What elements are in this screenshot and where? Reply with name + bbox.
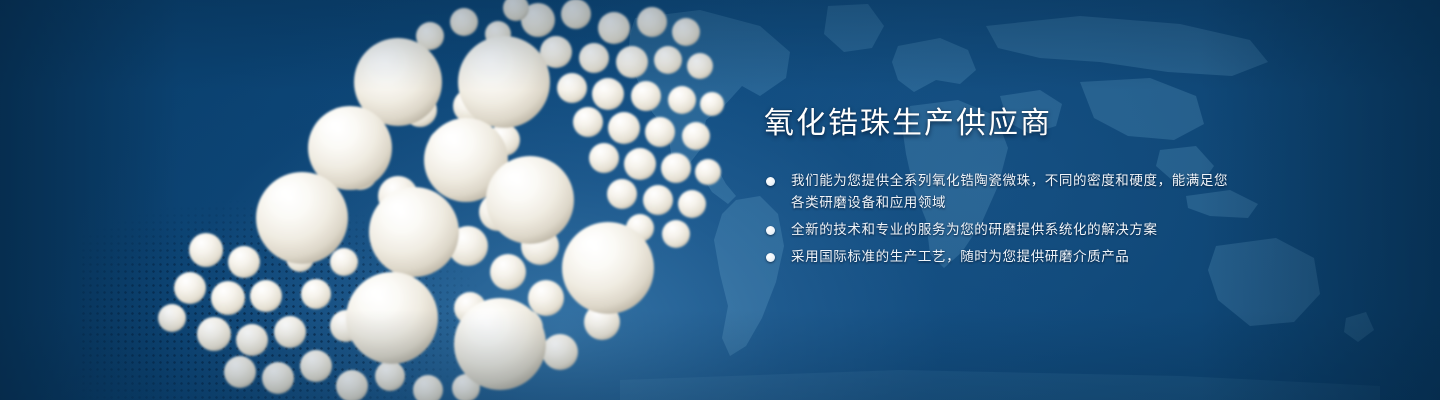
bullet-dot-icon <box>766 226 775 235</box>
promo-banner: 氧化锆珠生产供应商 我们能为您提供全系列氧化锆陶瓷微珠，不同的密度和硬度，能满足… <box>0 0 1440 400</box>
bullet-dot-icon <box>766 253 775 262</box>
banner-headline: 氧化锆珠生产供应商 <box>764 104 1234 144</box>
feature-item-text: 采用国际标准的生产工艺，随时为您提供研磨介质产品 <box>791 249 1129 264</box>
feature-item-text: 全新的技术和专业的服务为您的研磨提供系统化的解决方案 <box>791 222 1158 237</box>
banner-copy: 氧化锆珠生产供应商 我们能为您提供全系列氧化锆陶瓷微珠，不同的密度和硬度，能满足… <box>764 104 1234 268</box>
feature-item: 采用国际标准的生产工艺，随时为您提供研磨介质产品 <box>764 246 1234 268</box>
zirconia-beads-image <box>0 0 760 400</box>
feature-list: 我们能为您提供全系列氧化锆陶瓷微珠，不同的密度和硬度，能满足您各类研磨设备和应用… <box>764 170 1234 268</box>
feature-item: 我们能为您提供全系列氧化锆陶瓷微珠，不同的密度和硬度，能满足您各类研磨设备和应用… <box>764 170 1234 214</box>
feature-item: 全新的技术和专业的服务为您的研磨提供系统化的解决方案 <box>764 219 1234 241</box>
feature-item-text: 我们能为您提供全系列氧化锆陶瓷微珠，不同的密度和硬度，能满足您各类研磨设备和应用… <box>791 173 1228 210</box>
bullet-dot-icon <box>766 177 775 186</box>
